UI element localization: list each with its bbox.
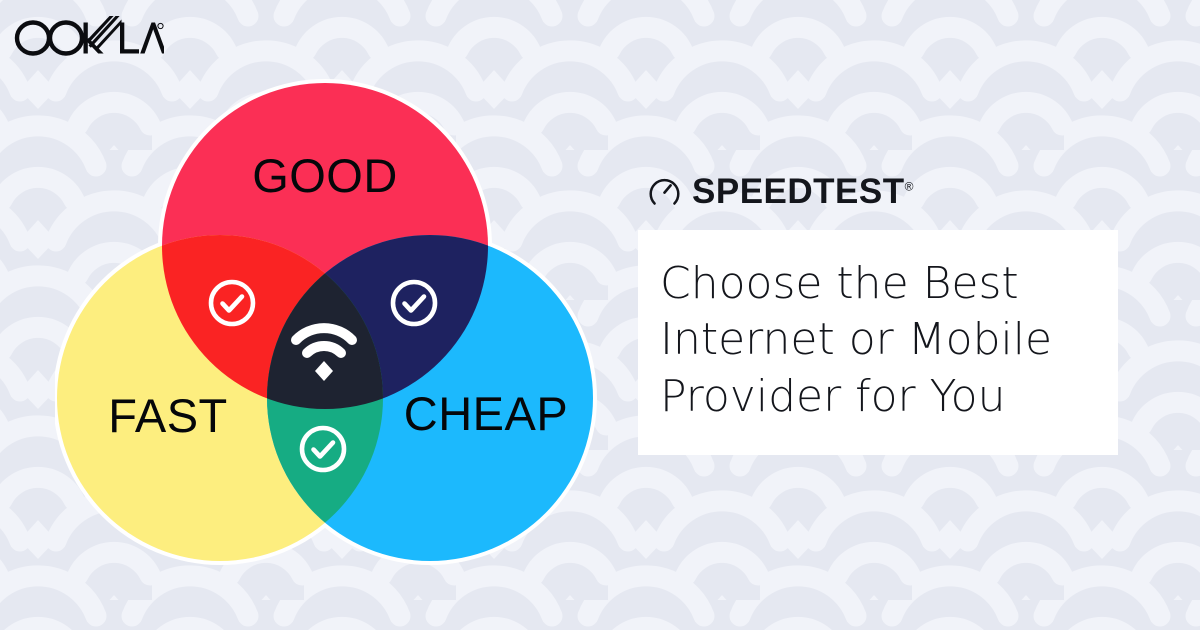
venn-diagram: GOOD FAST CHEAP [55, 68, 610, 578]
ookla-logo [14, 14, 164, 60]
speedtest-lockup: SPEEDTEST® [638, 168, 1118, 214]
poster-canvas: GOOD FAST CHEAP [0, 0, 1200, 630]
venn-label-cheap: CHEAP [404, 387, 568, 440]
speedtest-wordmark: SPEEDTEST® [692, 174, 913, 209]
headline-line-1: Choose the Best [660, 256, 1096, 312]
page-title: Choose the Best Internet or Mobile Provi… [638, 256, 1118, 425]
venn-label-good: GOOD [252, 149, 398, 202]
headline-line-3: Provider for You [660, 369, 1096, 425]
venn-label-fast: FAST [108, 389, 228, 442]
headline-box: Choose the Best Internet or Mobile Provi… [638, 230, 1118, 455]
headline-line-2: Internet or Mobile [660, 312, 1096, 368]
right-content-panel: SPEEDTEST® Choose the Best Internet or M… [638, 168, 1118, 455]
registered-trademark-symbol: ® [905, 179, 914, 193]
speedometer-icon [648, 175, 681, 208]
speedtest-wordmark-text: SPEEDTEST [692, 172, 905, 211]
